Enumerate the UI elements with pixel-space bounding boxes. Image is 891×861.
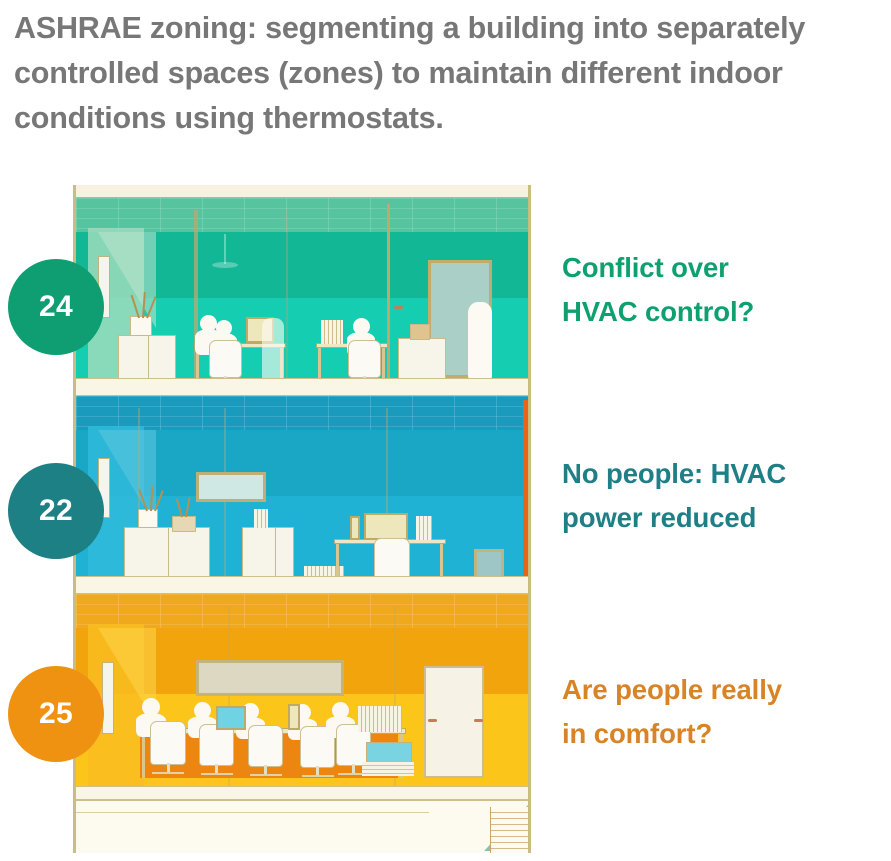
ceiling-grid-middle xyxy=(76,396,528,430)
desk-leg xyxy=(336,544,339,576)
plant-pot-top-left xyxy=(130,316,152,336)
monitor-side-middle xyxy=(350,516,360,540)
desk-leg xyxy=(382,348,385,378)
annotation-zone-middle-line2: power reduced xyxy=(562,496,882,540)
annotation-zone-top-line2: HVAC control? xyxy=(562,290,882,334)
books-bottom xyxy=(358,706,402,732)
person-standing-top-right xyxy=(468,302,492,378)
floor-middle-zone-22 xyxy=(76,396,528,576)
wall-window-middle xyxy=(196,472,266,502)
chair-back-middle xyxy=(374,538,410,576)
cabinet-top-left xyxy=(118,335,176,378)
cabinet-top-right xyxy=(398,338,446,378)
annotation-zone-middle: No people: HVAC power reduced xyxy=(562,452,882,540)
door-bottom xyxy=(424,666,484,778)
ceiling-bottom xyxy=(76,594,528,628)
ceiling-top xyxy=(76,198,528,232)
annotation-zone-top: Conflict over HVAC control? xyxy=(562,246,882,334)
entrance-stairs xyxy=(490,807,528,853)
ground-slab xyxy=(76,786,528,800)
monitor-cyan-bottom xyxy=(216,706,246,730)
cabinet-middle-center xyxy=(242,527,294,576)
door-knob-bottom-inner xyxy=(428,719,437,722)
door-knob-top xyxy=(394,306,403,309)
plant-pot-middle-a xyxy=(138,509,158,528)
annotation-zone-middle-line1: No people: HVAC xyxy=(562,452,882,496)
floor-slab-between-middle-and-bottom xyxy=(76,576,528,594)
person-standing-top-a xyxy=(262,318,284,378)
chair-base xyxy=(152,772,184,774)
desk-leg xyxy=(440,544,443,576)
paper-stack-bottom xyxy=(362,762,414,776)
right-edge-strip-middle xyxy=(523,400,528,576)
page-title: ASHRAE zoning: segmenting a building int… xyxy=(14,6,880,141)
chair-back xyxy=(348,340,381,378)
building-section-illustration xyxy=(73,185,531,853)
roof-slab xyxy=(76,185,528,198)
chair-back xyxy=(150,721,186,765)
pillar-top-mid xyxy=(286,210,288,378)
temperature-badge-zone-top[interactable]: 24 xyxy=(8,259,104,355)
ceiling-grid-top xyxy=(76,198,528,232)
pens-holder-middle xyxy=(254,509,268,528)
monitor-middle xyxy=(364,513,408,540)
ceiling-light-stem xyxy=(224,234,226,264)
cabinet-seam xyxy=(168,528,169,576)
annotation-zone-bottom-line2: in comfort? xyxy=(562,712,882,756)
slide-canvas: ASHRAE zoning: segmenting a building int… xyxy=(0,0,891,861)
framed-panel-middle xyxy=(474,549,504,576)
lamp-bottom xyxy=(288,704,300,730)
temperature-badge-zone-bottom[interactable]: 25 xyxy=(8,666,104,762)
base-seam xyxy=(76,812,429,813)
cabinet-seam xyxy=(148,336,149,378)
window-slit-bottom xyxy=(102,662,114,734)
floor-top-zone-24 xyxy=(76,198,528,378)
chair-back xyxy=(199,724,234,766)
whiteboard-bottom xyxy=(196,660,344,696)
chair-base xyxy=(302,775,334,777)
floor-slab-between-top-and-middle xyxy=(76,378,528,396)
cabinet-seam xyxy=(275,528,276,576)
floor-bottom-zone-25 xyxy=(76,594,528,786)
books-middle xyxy=(416,516,432,540)
ceiling-light xyxy=(212,262,238,268)
chair-back xyxy=(209,340,242,378)
ceiling-middle xyxy=(76,396,528,430)
room-divider-top xyxy=(387,204,390,378)
annotation-zone-bottom-line1: Are people really xyxy=(562,668,882,712)
building-base xyxy=(76,800,528,853)
plant-pot-middle-b xyxy=(172,516,196,532)
cabinet-middle-left xyxy=(124,527,210,576)
ceiling-grid-bottom xyxy=(76,594,528,628)
annotation-zone-top-line1: Conflict over xyxy=(562,246,882,290)
chair-back xyxy=(248,725,283,767)
desk-leg xyxy=(142,734,145,778)
door-knob-bottom xyxy=(474,719,483,722)
desk-leg xyxy=(318,348,321,378)
storage-bin-bottom xyxy=(366,742,412,764)
plant-pot-top-right xyxy=(410,324,430,340)
annotation-zone-bottom: Are people really in comfort? xyxy=(562,668,882,756)
temperature-badge-zone-middle[interactable]: 22 xyxy=(8,463,104,559)
books-top xyxy=(321,320,343,344)
chair-base xyxy=(250,774,282,776)
chair-base xyxy=(201,773,233,775)
